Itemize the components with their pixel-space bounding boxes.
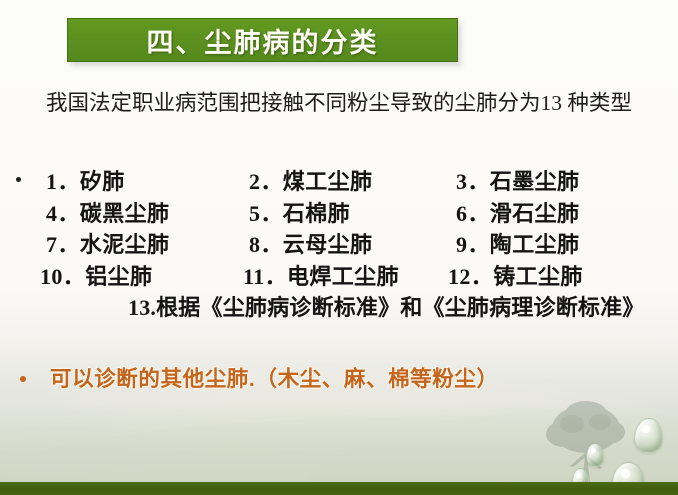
intro-paragraph: 我国法定职业病范围把接触不同粉尘导致的尘肺分为13 种类型 [40,88,638,119]
list-cell: 4．碳黑尘肺 [46,198,169,229]
bullet-icon [16,177,21,182]
water-droplet [634,418,663,453]
list-item: 7．水泥尘肺 8．云母尘肺 9．陶工尘肺 [0,229,678,261]
water-droplet [586,443,604,467]
list-cell: 13.根据《尘肺病诊断标准》和《尘肺病理诊断标准》 [128,292,645,323]
near-hill [0,418,678,495]
far-hill [300,408,678,495]
list-cell: 1．矽肺 [46,166,125,197]
page-title: 四、尘肺病的分类 [147,21,379,60]
water-surface [0,402,678,464]
list-cell: 11．电焊工尘肺 [243,261,399,292]
list-cell: 2．煤工尘肺 [249,166,372,197]
list-cell: 12．铸工尘肺 [448,261,583,292]
title-banner: 四、尘肺病的分类 [67,18,458,62]
list-cell: 7．水泥尘肺 [46,229,169,260]
pneumoconiosis-type-list: 1．矽肺 2．煤工尘肺 3．石墨尘肺 4．碳黑尘肺 5．石棉肺 6．滑石尘肺 7… [0,166,678,324]
highlight-text: 可以诊断的其他尘肺.（木尘、麻、棉等粉尘） [50,363,499,395]
list-cell: 6．滑石尘肺 [456,198,579,229]
highlight-line: 可以诊断的其他尘肺.（木尘、麻、棉等粉尘） [0,363,678,397]
bullet-icon [20,376,26,382]
tree-icon [520,396,640,484]
list-item: 4．碳黑尘肺 5．石棉肺 6．滑石尘肺 [0,198,678,230]
slide-canvas: 四、尘肺病的分类 我国法定职业病范围把接触不同粉尘导致的尘肺分为13 种类型 1… [0,0,678,495]
list-cell: 8．云母尘肺 [249,229,372,260]
list-cell: 9．陶工尘肺 [456,229,579,260]
water-droplet [572,468,589,491]
water-droplet [612,462,645,495]
list-cell: 5．石棉肺 [249,198,350,229]
mist-haze [0,300,678,495]
list-item-standards: 13.根据《尘肺病诊断标准》和《尘肺病理诊断标准》 [0,292,678,324]
list-cell: 10．铝尘肺 [40,261,152,292]
sun-reflection [120,428,350,462]
list-item: 10．铝尘肺 11．电焊工尘肺 12．铸工尘肺 [0,261,678,293]
bottom-green-bar [0,482,678,495]
list-cell: 3．石墨尘肺 [456,166,579,197]
list-item: 1．矽肺 2．煤工尘肺 3．石墨尘肺 [0,166,678,198]
